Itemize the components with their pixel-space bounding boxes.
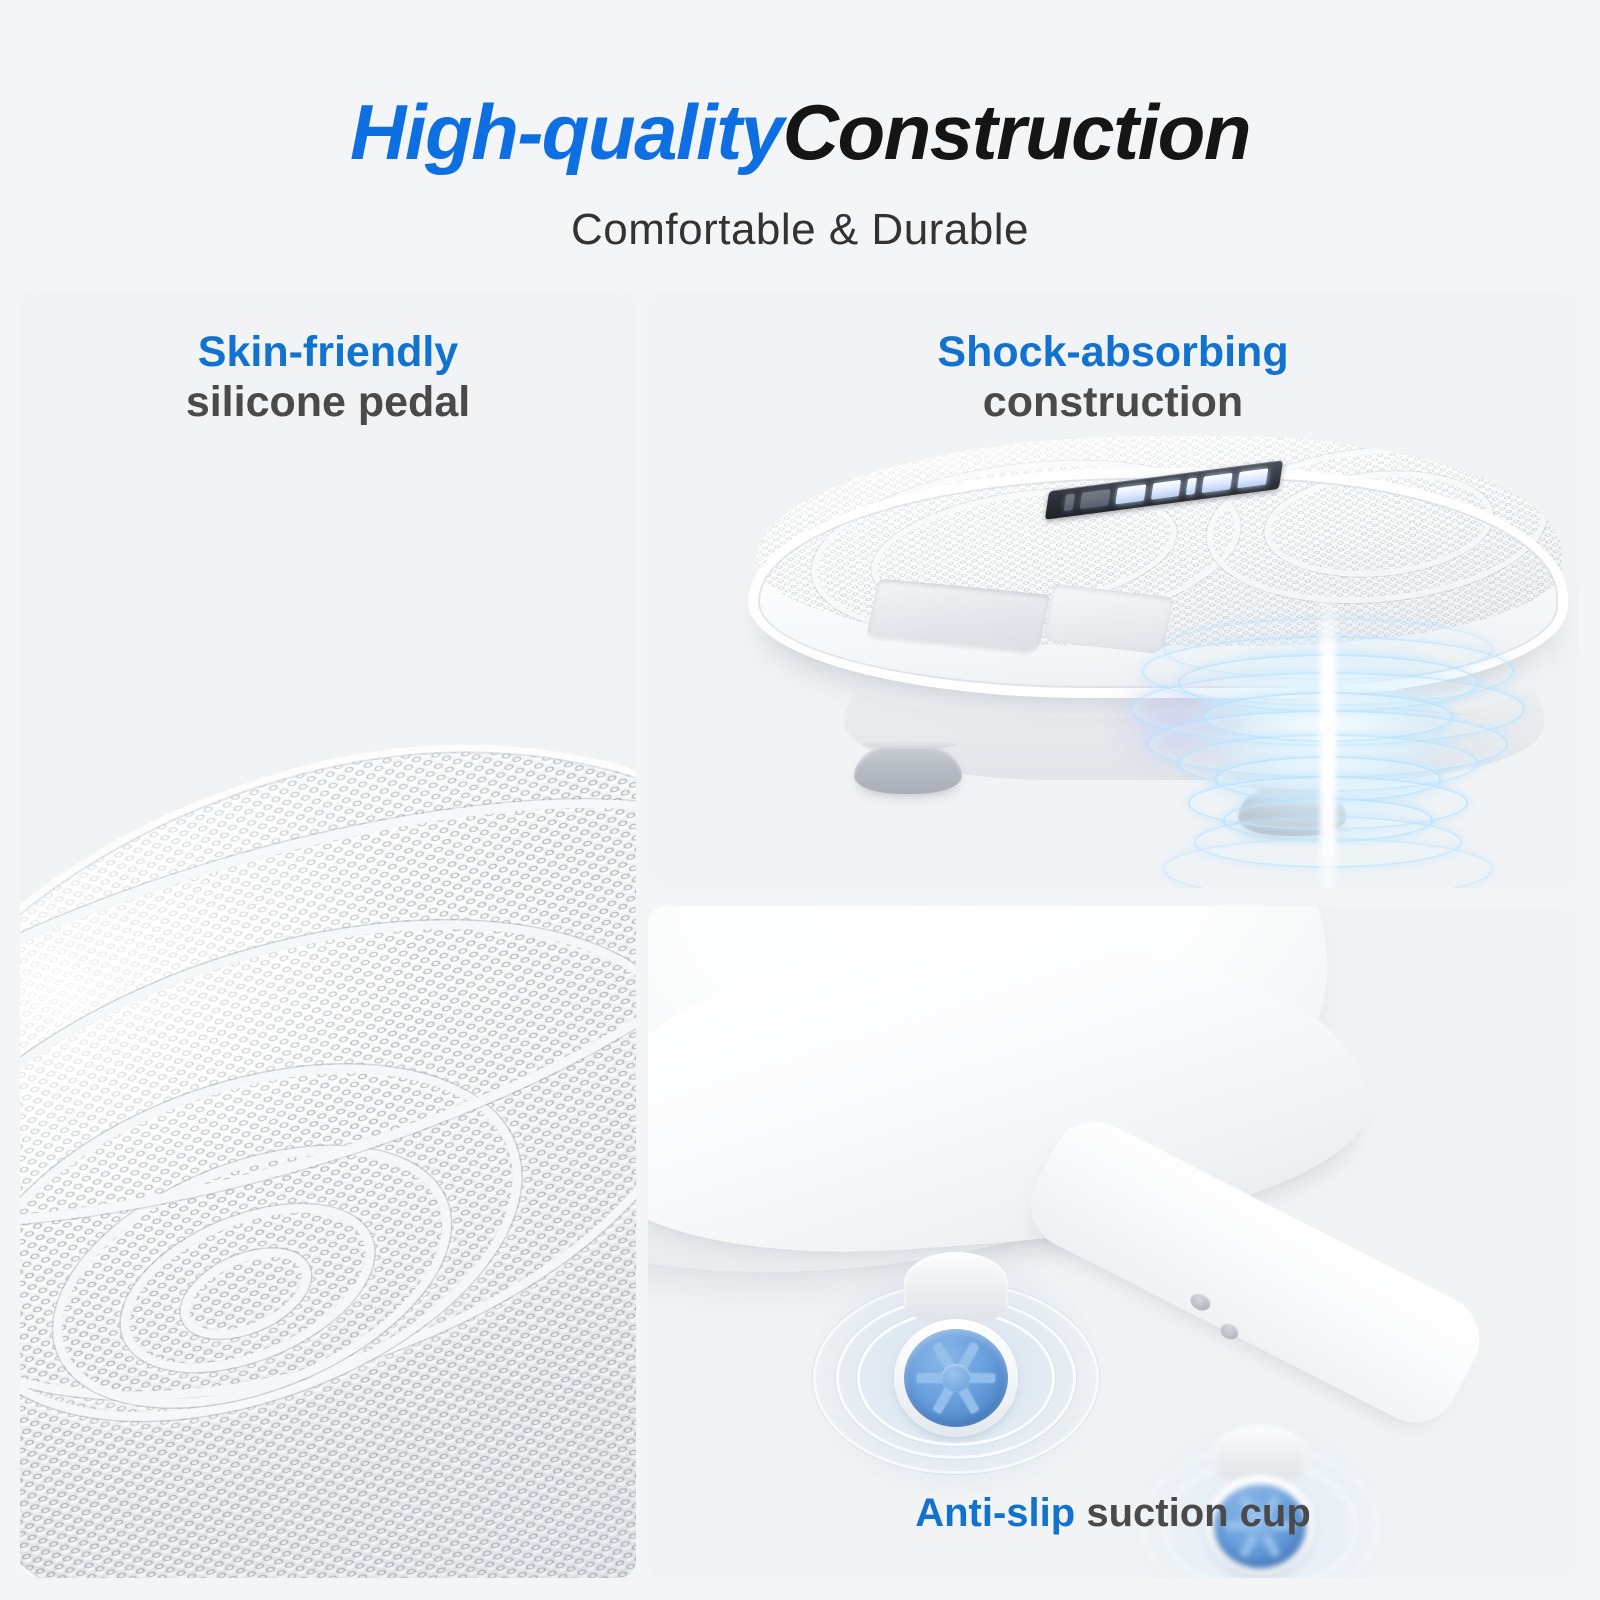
caption-skin-friendly-blue: Skin-friendly xyxy=(198,328,458,376)
page-title-blue: High-quality xyxy=(350,88,783,176)
suction-cup-hub xyxy=(941,1364,971,1392)
vibration-ring xyxy=(1163,838,1493,888)
product-feature-graphic: High-qualityConstruction Comfortable & D… xyxy=(0,0,1600,1600)
page-subtitle: Comfortable & Durable xyxy=(0,205,1600,255)
led-segment xyxy=(1064,494,1075,512)
caption-anti-slip-dark: suction cup xyxy=(1086,1491,1310,1535)
led-segment xyxy=(1202,473,1233,493)
panel-anti-slip: Anti-slip suction cup xyxy=(648,906,1578,1578)
silicone-mat xyxy=(20,646,636,1578)
suction-cup-neck xyxy=(904,1252,1008,1324)
suction-cup-primary xyxy=(796,1206,1116,1506)
caption-shock-absorbing-blue: Shock-absorbing xyxy=(937,328,1288,376)
rubber-foot-right-cap xyxy=(1246,780,1340,789)
suction-cup-face xyxy=(904,1329,1008,1427)
rubber-foot-right xyxy=(1238,782,1346,836)
led-segment xyxy=(1115,484,1146,504)
led-segment xyxy=(1150,480,1181,500)
caption-shock-absorbing-dark: construction xyxy=(983,378,1243,426)
caption-anti-slip: Anti-slip suction cup xyxy=(648,1490,1578,1536)
suction-cup-illustration xyxy=(648,906,1578,1578)
page-title-dark: Construction xyxy=(783,88,1250,176)
suction-cup-secondary xyxy=(1110,1382,1410,1578)
rubber-foot-left-cap xyxy=(862,740,956,749)
led-segment xyxy=(1237,468,1268,488)
led-segment xyxy=(1186,478,1197,496)
panel-skin-friendly: Skin-friendly silicone pedal xyxy=(20,290,636,1578)
caption-skin-friendly-dark: silicone pedal xyxy=(186,378,470,426)
caption-skin-friendly: Skin-friendly silicone pedal xyxy=(20,328,636,428)
page-title: High-qualityConstruction xyxy=(0,92,1600,173)
led-segment xyxy=(1079,489,1110,509)
caption-shock-absorbing: Shock-absorbing construction xyxy=(648,328,1578,428)
caption-anti-slip-blue: Anti-slip xyxy=(915,1491,1075,1535)
panel-shock-absorbing: Shock-absorbing construction xyxy=(648,290,1578,888)
